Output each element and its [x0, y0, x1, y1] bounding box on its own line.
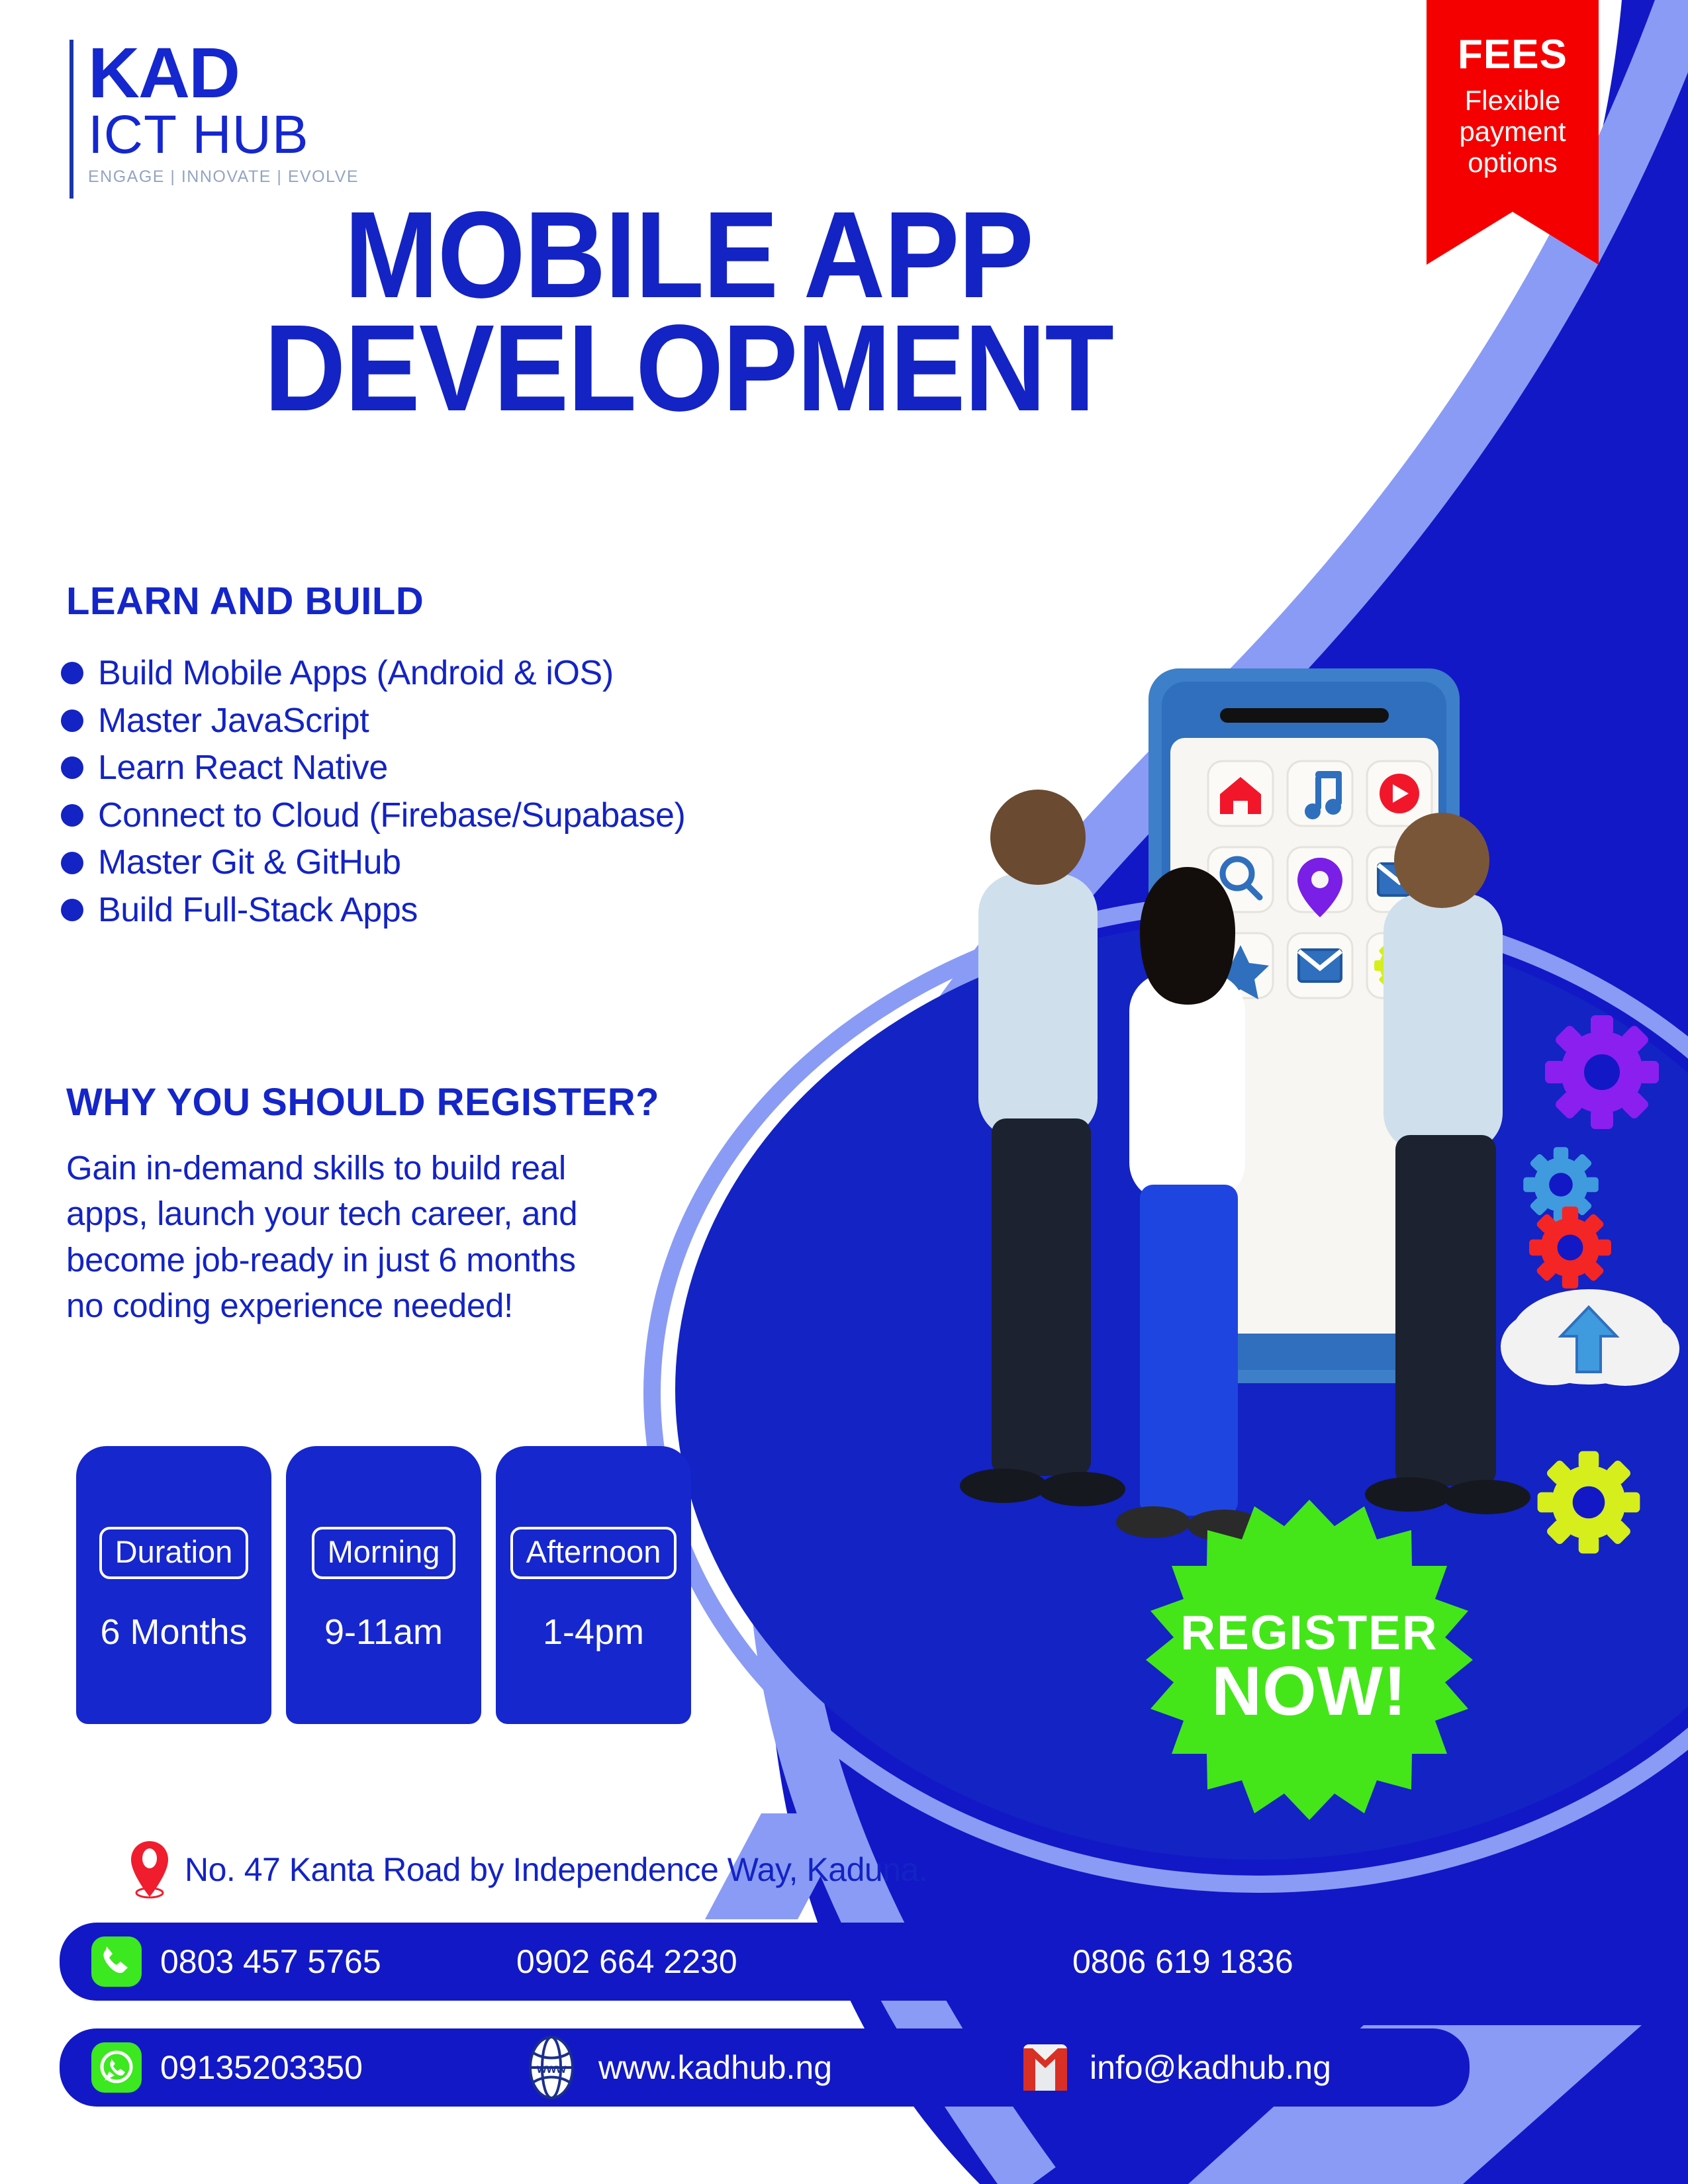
list-item: Learn React Native [61, 750, 685, 786]
poster-canvas: FEES Flexible payment options KAD ICT HU… [0, 0, 1688, 2184]
contact-website[interactable]: www www.kadhub.ng [523, 2036, 832, 2099]
gear-icon [1374, 940, 1425, 991]
list-item-label: Master JavaScript [98, 703, 369, 739]
svg-text:www: www [536, 2062, 567, 2076]
title-line-2: DEVELOPMENT [55, 312, 1322, 425]
star-icon [1212, 945, 1269, 999]
contact-whatsapp[interactable]: 09135203350 [91, 2042, 363, 2093]
person-right-trousers [1395, 1135, 1496, 1486]
gear-lightblue [1523, 1147, 1599, 1222]
decor-gears [1501, 1015, 1679, 1553]
person-right-shirt [1383, 893, 1503, 1152]
address-row: No. 47 Kanta Road by Independence Way, K… [129, 1840, 927, 1899]
person-center-shirt [1129, 973, 1245, 1201]
fees-line-3: options [1459, 147, 1566, 178]
person-left-head [990, 790, 1086, 885]
phone-number: 0803 457 5765 [160, 1942, 381, 1981]
fees-title: FEES [1458, 34, 1568, 75]
website-url: www.kadhub.ng [598, 2048, 832, 2087]
bullet-dot-icon [61, 852, 83, 874]
person-right-head [1394, 813, 1489, 908]
logo-tagline: ENGAGE | INNOVATE | EVOLVE [88, 167, 359, 187]
learn-and-build-heading: LEARN AND BUILD [66, 579, 424, 623]
whatsapp-icon [91, 2042, 142, 2093]
globe-www-icon: www [523, 2036, 580, 2099]
app-icon-grid [1208, 761, 1432, 999]
list-item: Master JavaScript [61, 703, 685, 739]
fees-line-2: payment [1459, 116, 1566, 147]
list-item-label: Connect to Cloud (Firebase/Supabase) [98, 797, 685, 834]
cta-line-1: REGISTER [1180, 1609, 1438, 1657]
person-left-shirt [978, 874, 1098, 1138]
list-item-label: Learn React Native [98, 750, 388, 786]
social-contact-bar: 09135203350 www www.kadhub.ng info@kadhu… [60, 2028, 1470, 2107]
play-icon [1380, 774, 1419, 813]
gear-purple [1545, 1015, 1659, 1129]
page-title: MOBILE APP DEVELOPMENT [0, 199, 1377, 425]
schedule-card-value: 1-4pm [543, 1612, 644, 1653]
person-center-hair [1140, 867, 1235, 1005]
list-item: Build Full-Stack Apps [61, 892, 685, 929]
phone-icon [91, 1936, 142, 1987]
why-line-3: become job-ready in just 6 months [66, 1237, 577, 1283]
list-item: Build Mobile Apps (Android & iOS) [61, 655, 685, 692]
fees-subtext: Flexible payment options [1459, 85, 1566, 178]
why-register-heading: WHY YOU SHOULD REGISTER? [66, 1080, 659, 1124]
logo-subwordmark: ICT HUB [88, 107, 359, 163]
phone-number: 0902 664 2230 [516, 1942, 737, 1981]
email-address: info@kadhub.ng [1090, 2048, 1331, 2087]
bullet-dot-icon [61, 662, 83, 684]
contact-email[interactable]: info@kadhub.ng [1019, 2039, 1331, 2096]
search-icon [1223, 859, 1260, 897]
home-icon [1220, 777, 1261, 814]
list-item-label: Build Full-Stack Apps [98, 892, 418, 929]
bullet-dot-icon [61, 899, 83, 921]
list-item: Connect to Cloud (Firebase/Supabase) [61, 797, 685, 834]
schedule-card-label: Duration [99, 1527, 249, 1579]
envelope-icon [1299, 950, 1341, 981]
list-item-label: Build Mobile Apps (Android & iOS) [98, 655, 614, 692]
register-now-text: REGISTER NOW! [1144, 1494, 1475, 1839]
schedule-card-label: Afternoon [510, 1527, 677, 1579]
gear-yellowgreen [1538, 1451, 1640, 1554]
bullet-dot-icon [61, 756, 83, 779]
schedule-card-duration: Duration 6 Months [76, 1446, 271, 1724]
cta-line-2: NOW! [1211, 1659, 1407, 1725]
schedule-cards: Duration 6 Months Morning 9-11am Afterno… [76, 1446, 691, 1724]
people-illustration [960, 790, 1530, 1541]
schedule-card-label: Morning [312, 1527, 456, 1579]
schedule-card-value: 6 Months [100, 1612, 247, 1653]
logo-kad-row: KAD [88, 40, 359, 105]
title-line-1: MOBILE APP [55, 199, 1322, 312]
why-line-1: Gain in-demand skills to build real [66, 1145, 577, 1191]
address-text: No. 47 Kanta Road by Independence Way, K… [185, 1850, 927, 1889]
contact-phone-3[interactable]: 0806 619 1836 [1072, 1942, 1293, 1981]
fees-ribbon: FEES Flexible payment options [1427, 0, 1599, 265]
why-register-body: Gain in-demand skills to build real apps… [66, 1145, 577, 1328]
whatsapp-number: 09135203350 [160, 2048, 363, 2087]
envelope-icon [1378, 864, 1421, 895]
location-pin-icon [129, 1840, 170, 1899]
kad-ict-hub-logo: KAD ICT HUB ENGAGE | INNOVATE | EVOLVE [70, 40, 359, 199]
list-item: Master Git & GitHub [61, 844, 685, 881]
phone-body [1149, 668, 1460, 1383]
cloud-upload-icon [1501, 1289, 1679, 1386]
why-line-2: apps, launch your tech career, and [66, 1191, 577, 1236]
person-center-trousers [1140, 1185, 1238, 1516]
person-left-trousers [992, 1118, 1091, 1476]
bullet-dot-icon [61, 709, 83, 732]
gear-red [1529, 1206, 1611, 1289]
why-line-4: no coding experience needed! [66, 1283, 577, 1328]
schedule-card-afternoon: Afternoon 1-4pm [496, 1446, 691, 1724]
register-now-badge[interactable]: REGISTER NOW! [1144, 1494, 1475, 1839]
schedule-card-morning: Morning 9-11am [286, 1446, 481, 1724]
bullet-dot-icon [61, 804, 83, 827]
fees-line-1: Flexible [1459, 85, 1566, 116]
contact-phone-2[interactable]: 0902 664 2230 [516, 1942, 737, 1981]
phone-screen [1170, 738, 1438, 1334]
list-item-label: Master Git & GitHub [98, 844, 401, 881]
gmail-envelope-icon [1019, 2039, 1071, 2096]
phone-number: 0806 619 1836 [1072, 1942, 1293, 1981]
logo-wordmark: KAD [88, 40, 239, 105]
contact-phone-1[interactable]: 0803 457 5765 [91, 1936, 381, 1987]
phone-contact-bar: 0803 457 5765 0902 664 2230 0806 619 183… [60, 1923, 1470, 2001]
location-pin-icon [1297, 858, 1342, 917]
schedule-card-value: 9-11am [324, 1612, 443, 1653]
logo-vertical-rule [70, 40, 73, 199]
music-note-icon [1305, 771, 1342, 819]
learn-and-build-list: Build Mobile Apps (Android & iOS) Master… [61, 655, 685, 940]
